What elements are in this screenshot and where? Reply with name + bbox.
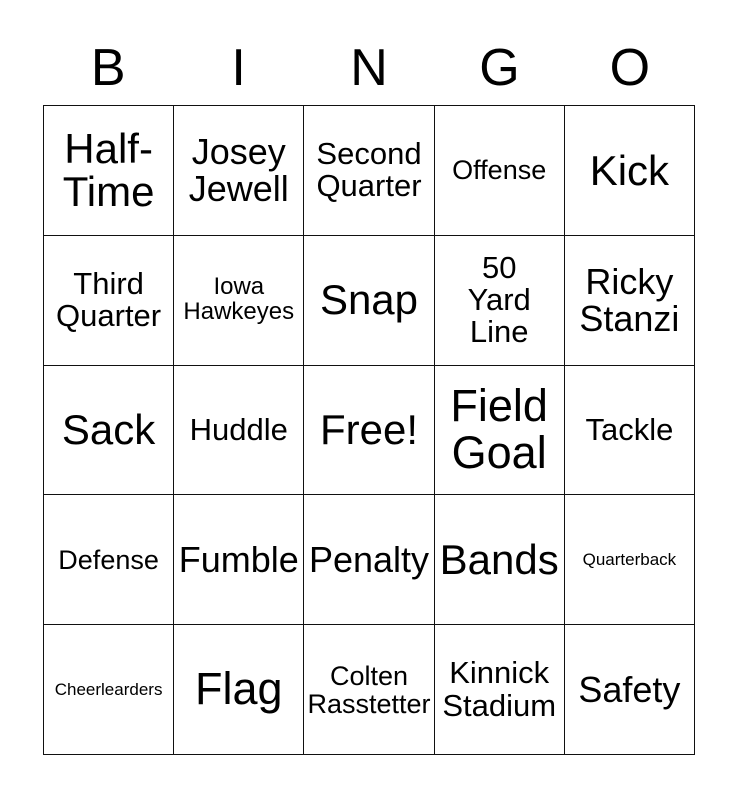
bingo-cell-label: 50 Yard Line (436, 252, 563, 349)
bingo-free-space-cell[interactable]: Free! (304, 366, 434, 496)
bingo-cell-label: Defense (45, 546, 172, 574)
bingo-cell-label: Snap (305, 278, 432, 322)
bingo-cell[interactable]: Josey Jewell (174, 106, 304, 236)
bingo-cell[interactable]: Iowa Hawkeyes (174, 236, 304, 366)
bingo-cell-label: Penalty (305, 541, 432, 578)
bingo-cell-label: Ricky Stanzi (566, 263, 693, 338)
bingo-card: B I N G O Half- TimeJosey JewellSecond Q… (0, 0, 736, 800)
bingo-cell-label: Quarterback (566, 551, 693, 569)
bingo-cell[interactable]: Fumble (174, 495, 304, 625)
bingo-cell-label: Josey Jewell (175, 133, 302, 208)
bingo-cell[interactable]: Bands (435, 495, 565, 625)
bingo-cell-label: Half- Time (45, 127, 172, 214)
bingo-cell[interactable]: Kick (565, 106, 695, 236)
bingo-cell[interactable]: Huddle (174, 366, 304, 496)
bingo-cell[interactable]: Half- Time (44, 106, 174, 236)
bingo-cell-label: Iowa Hawkeyes (175, 275, 302, 325)
bingo-cell[interactable]: Third Quarter (44, 236, 174, 366)
bingo-grid: Half- TimeJosey JewellSecond QuarterOffe… (43, 105, 695, 755)
bingo-cell-label: Huddle (175, 414, 302, 446)
bingo-cell[interactable]: Offense (435, 106, 565, 236)
bingo-header-letter-b: B (43, 34, 173, 102)
bingo-cell[interactable]: Second Quarter (304, 106, 434, 236)
bingo-header-letter-n: N (304, 34, 434, 102)
bingo-cell[interactable]: Tackle (565, 366, 695, 496)
bingo-cell[interactable]: Defense (44, 495, 174, 625)
bingo-cell-label: Safety (566, 671, 693, 708)
bingo-cell-label: Bands (436, 538, 563, 582)
bingo-cell[interactable]: Safety (565, 625, 695, 755)
bingo-cell[interactable]: Penalty (304, 495, 434, 625)
bingo-cell-label: Field Goal (436, 383, 563, 477)
bingo-cell[interactable]: Flag (174, 625, 304, 755)
bingo-cell[interactable]: Colten Rasstetter (304, 625, 434, 755)
bingo-cell-label: Free! (305, 408, 432, 452)
bingo-cell-label: Cheerlearders (45, 681, 172, 699)
bingo-cell[interactable]: Sack (44, 366, 174, 496)
bingo-header-letter-i: I (173, 34, 303, 102)
bingo-cell-label: Flag (175, 666, 302, 713)
bingo-header-letter-g: G (434, 34, 564, 102)
bingo-header-row: B I N G O (43, 34, 695, 102)
bingo-cell[interactable]: 50 Yard Line (435, 236, 565, 366)
bingo-cell-label: Colten Rasstetter (305, 662, 432, 718)
bingo-cell-label: Tackle (566, 414, 693, 446)
bingo-cell[interactable]: Kinnick Stadium (435, 625, 565, 755)
bingo-cell[interactable]: Ricky Stanzi (565, 236, 695, 366)
bingo-cell-label: Kick (566, 149, 693, 193)
bingo-cell[interactable]: Field Goal (435, 366, 565, 496)
bingo-cell[interactable]: Quarterback (565, 495, 695, 625)
bingo-cell-label: Sack (45, 408, 172, 452)
bingo-cell-label: Second Quarter (305, 138, 432, 202)
bingo-cell-label: Kinnick Stadium (436, 657, 563, 721)
bingo-cell[interactable]: Cheerlearders (44, 625, 174, 755)
bingo-cell-label: Third Quarter (45, 268, 172, 332)
bingo-header-letter-o: O (565, 34, 695, 102)
bingo-cell[interactable]: Snap (304, 236, 434, 366)
bingo-cell-label: Offense (436, 156, 563, 184)
bingo-cell-label: Fumble (175, 541, 302, 578)
